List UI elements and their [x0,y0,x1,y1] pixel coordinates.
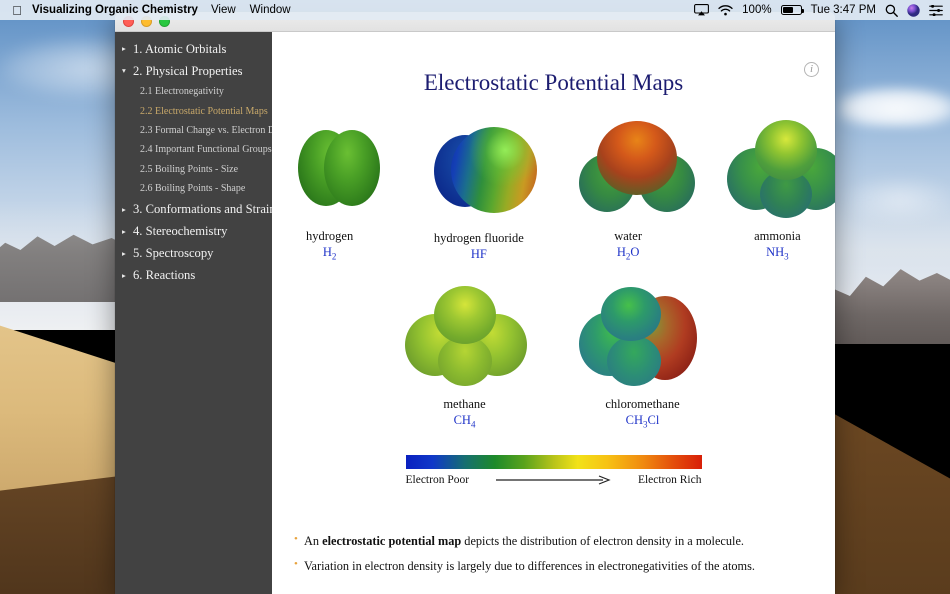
molecule-name: methane [399,397,531,412]
surface-lobe [597,121,677,195]
battery-icon[interactable] [781,5,802,15]
menu-app-title[interactable]: Visualizing Organic Chemistry [32,4,198,16]
molecule-row-1: hydrogen H2 hydrogen fluoride HF [272,116,835,262]
slide-content: i Electrostatic Potential Maps hydrogen … [272,32,835,594]
surface-lobe [434,286,496,344]
sidebar-subitem-boiling-points-size[interactable]: 2.5 Boiling Points - Size [115,160,272,179]
sidebar-subitem-formal-charge[interactable]: 2.3 Formal Charge vs. Electron Density [115,121,272,140]
sidebar-item-stereochemistry[interactable]: ▸ 4. Stereochemistry [115,220,272,242]
molecule-name: hydrogen [272,229,387,244]
right-arrow-icon [495,475,613,485]
bullet-list: • An electrostatic potential map depicts… [294,532,764,576]
sidebar-item-reactions[interactable]: ▸ 6. Reactions [115,264,272,286]
info-icon[interactable]: i [804,62,819,77]
bullet-text: Variation in electron density is largely… [304,557,755,575]
wifi-icon[interactable] [718,5,733,16]
scale-label-electron-poor: Electron Poor [406,474,470,486]
search-icon[interactable] [885,4,898,17]
molecule-formula: H2 [272,245,387,262]
bullet-item: • An electrostatic potential map depicts… [294,532,764,550]
molecule-row-2: methane CH4 chloromethane CH3Cl [272,284,835,430]
electrostatic-surface-hydrogen-fluoride [421,118,536,223]
chevron-right-icon[interactable]: ▸ [122,206,131,214]
electron-density-scale: Electron Poor Electron Rich [406,455,702,486]
menu-item-window[interactable]: Window [250,4,291,16]
sidebar-item-spectroscopy[interactable]: ▸ 5. Spectroscopy [115,242,272,264]
molecule-formula: CH3Cl [577,413,709,430]
molecule-card-hydrogen: hydrogen H2 [272,116,387,262]
chevron-right-icon[interactable]: ▸ [122,272,131,280]
wallpaper-cloud [838,85,950,127]
sidebar-item-label: 3. Conformations and Strain [133,202,272,217]
bullet-item: • Variation in electron density is large… [294,557,764,575]
molecule-formula: H2O [571,245,686,262]
chevron-down-icon[interactable]: ▾ [122,67,131,75]
surface-lobe [451,127,537,213]
menu-clock[interactable]: Tue 3:47 PM [811,4,876,16]
molecule-name: chloromethane [577,397,709,412]
menu-bar:  Visualizing Organic Chemistry View Win… [0,0,950,20]
molecule-formula: CH4 [399,413,531,430]
surface-lobe [601,287,661,341]
molecule-card-chloromethane: chloromethane CH3Cl [577,284,709,430]
apple-logo-icon[interactable]:  [7,4,27,17]
sidebar-subitem-functional-groups[interactable]: 2.4 Important Functional Groups [115,140,272,159]
sidebar-item-label: 6. Reactions [133,268,195,283]
bullet-text: An electrostatic potential map depicts t… [304,532,744,550]
siri-icon[interactable] [907,4,920,17]
sidebar-item-label: 1. Atomic Orbitals [133,42,226,57]
molecule-formula: NH3 [720,245,835,262]
scale-label-electron-rich: Electron Rich [638,474,702,486]
sidebar-item-label: 4. Stereochemistry [133,224,227,239]
page-title: Electrostatic Potential Maps [272,70,835,96]
menu-status-items: 100% Tue 3:47 PM [694,4,943,17]
chevron-right-icon[interactable]: ▸ [122,45,131,53]
sidebar-navigation[interactable]: ▸ 1. Atomic Orbitals ▾ 2. Physical Prope… [115,32,272,594]
sidebar-item-atomic-orbitals[interactable]: ▸ 1. Atomic Orbitals [115,38,272,60]
molecule-card-hydrogen-fluoride: hydrogen fluoride HF [421,118,536,262]
electrostatic-surface-ammonia [720,116,835,221]
battery-percent-label: 100% [742,4,771,16]
molecule-card-water: water H2O [571,116,686,262]
surface-lobe [755,120,817,180]
electrostatic-surface-hydrogen [272,116,387,221]
window-body: ▸ 1. Atomic Orbitals ▾ 2. Physical Prope… [115,32,835,594]
sidebar-subitem-electronegativity[interactable]: 2.1 Electronegativity [115,82,272,101]
sidebar-item-conformations-and-strain[interactable]: ▸ 3. Conformations and Strain [115,198,272,220]
scale-labels: Electron Poor Electron Rich [406,474,702,486]
sidebar-subitem-electrostatic-potential-maps[interactable]: 2.2 Electrostatic Potential Maps [115,101,272,120]
molecule-name: ammonia [720,229,835,244]
molecule-card-ammonia: ammonia NH3 [720,116,835,262]
molecule-formula: HF [421,247,536,262]
bullet-dot-icon: • [294,557,304,573]
control-center-list-icon[interactable] [929,5,943,16]
chevron-right-icon[interactable]: ▸ [122,228,131,236]
molecule-name: water [571,229,686,244]
chevron-right-icon[interactable]: ▸ [122,250,131,258]
electrostatic-surface-methane [399,284,531,389]
app-window: ▸ 1. Atomic Orbitals ▾ 2. Physical Prope… [115,12,835,594]
surface-lobe [324,130,380,206]
airplay-icon[interactable] [694,4,709,16]
electrostatic-surface-water [571,116,686,221]
electrostatic-surface-chloromethane [577,284,709,389]
molecule-card-methane: methane CH4 [399,284,531,430]
molecule-name: hydrogen fluoride [421,231,536,246]
sidebar-item-physical-properties[interactable]: ▾ 2. Physical Properties [115,60,272,82]
sidebar-subitem-boiling-points-shape[interactable]: 2.6 Boiling Points - Shape [115,179,272,198]
bullet-dot-icon: • [294,532,304,548]
color-gradient-bar [406,455,702,469]
menu-item-view[interactable]: View [211,4,236,16]
sidebar-item-label: 2. Physical Properties [133,64,242,79]
surface-lobe [607,336,661,386]
sidebar-item-label: 5. Spectroscopy [133,246,213,261]
